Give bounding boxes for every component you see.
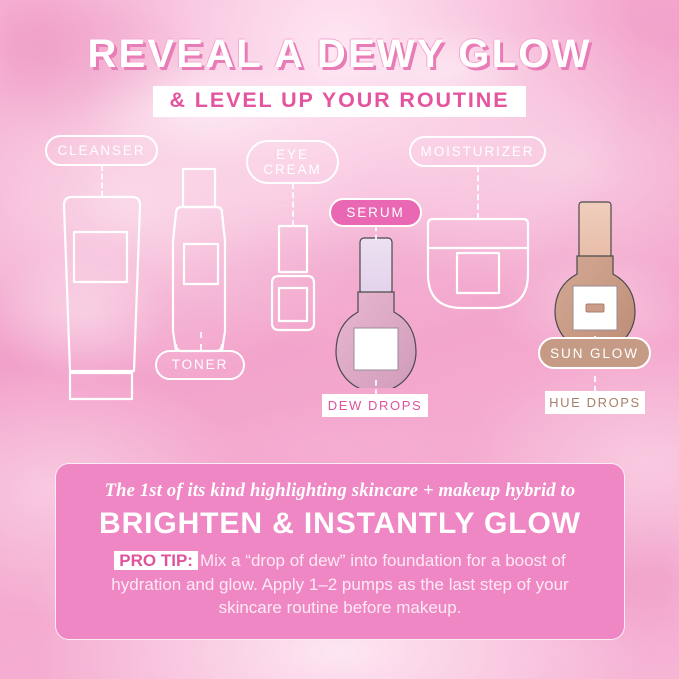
info-panel: The 1st of its kind highlighting skincar… <box>55 463 625 640</box>
connector-serum <box>375 226 377 240</box>
connector-dew-drops <box>375 380 377 395</box>
tag-dew-drops-text: DEW DROPS <box>328 398 423 413</box>
label-toner[interactable]: TONER <box>155 350 245 380</box>
label-eye-cream[interactable]: EYE CREAM <box>246 140 339 184</box>
toner-illustration <box>173 169 225 351</box>
tag-dew-drops[interactable]: DEW DROPS <box>322 394 428 417</box>
label-serum[interactable]: SERUM <box>329 198 422 227</box>
label-cleanser[interactable]: CLEANSER <box>45 135 158 166</box>
moisturizer-illustration <box>428 219 528 308</box>
serum-bottle-illustration <box>332 236 420 388</box>
sun-glow-bottle-illustration <box>551 200 639 348</box>
panel-body-text: PRO TIP:Mix a “drop of dew” into foundat… <box>78 549 602 619</box>
cleanser-illustration <box>64 197 140 399</box>
eye-cream-illustration <box>272 226 314 330</box>
panel-headline: BRIGHTEN & INSTANTLY GLOW <box>78 507 602 541</box>
connector-cleanser <box>101 165 103 197</box>
label-sun-glow[interactable]: SUN GLOW <box>538 337 651 369</box>
label-serum-text: SERUM <box>346 205 404 220</box>
label-eye-cream-line1: EYE <box>276 147 309 162</box>
label-eye-cream-line2: CREAM <box>263 162 321 177</box>
tag-hue-drops-text: HUE DROPS <box>549 395 641 410</box>
pro-tip-badge: PRO TIP: <box>114 551 198 570</box>
label-toner-text: TONER <box>172 357 229 372</box>
label-cleanser-text: CLEANSER <box>58 143 146 158</box>
panel-script-line: The 1st of its kind highlighting skincar… <box>78 482 602 501</box>
connector-toner <box>200 332 202 350</box>
label-moisturizer[interactable]: MOISTURIZER <box>409 136 546 167</box>
label-sun-glow-text: SUN GLOW <box>550 346 639 361</box>
connector-moisturizer <box>477 166 479 219</box>
connector-eye-cream <box>292 183 294 226</box>
infographic-canvas: REVEAL A DEWY GLOW & LEVEL UP YOUR ROUTI… <box>0 0 679 679</box>
connector-hue-drops <box>594 376 596 392</box>
tag-hue-drops[interactable]: HUE DROPS <box>545 391 645 414</box>
label-moisturizer-text: MOISTURIZER <box>421 144 535 159</box>
